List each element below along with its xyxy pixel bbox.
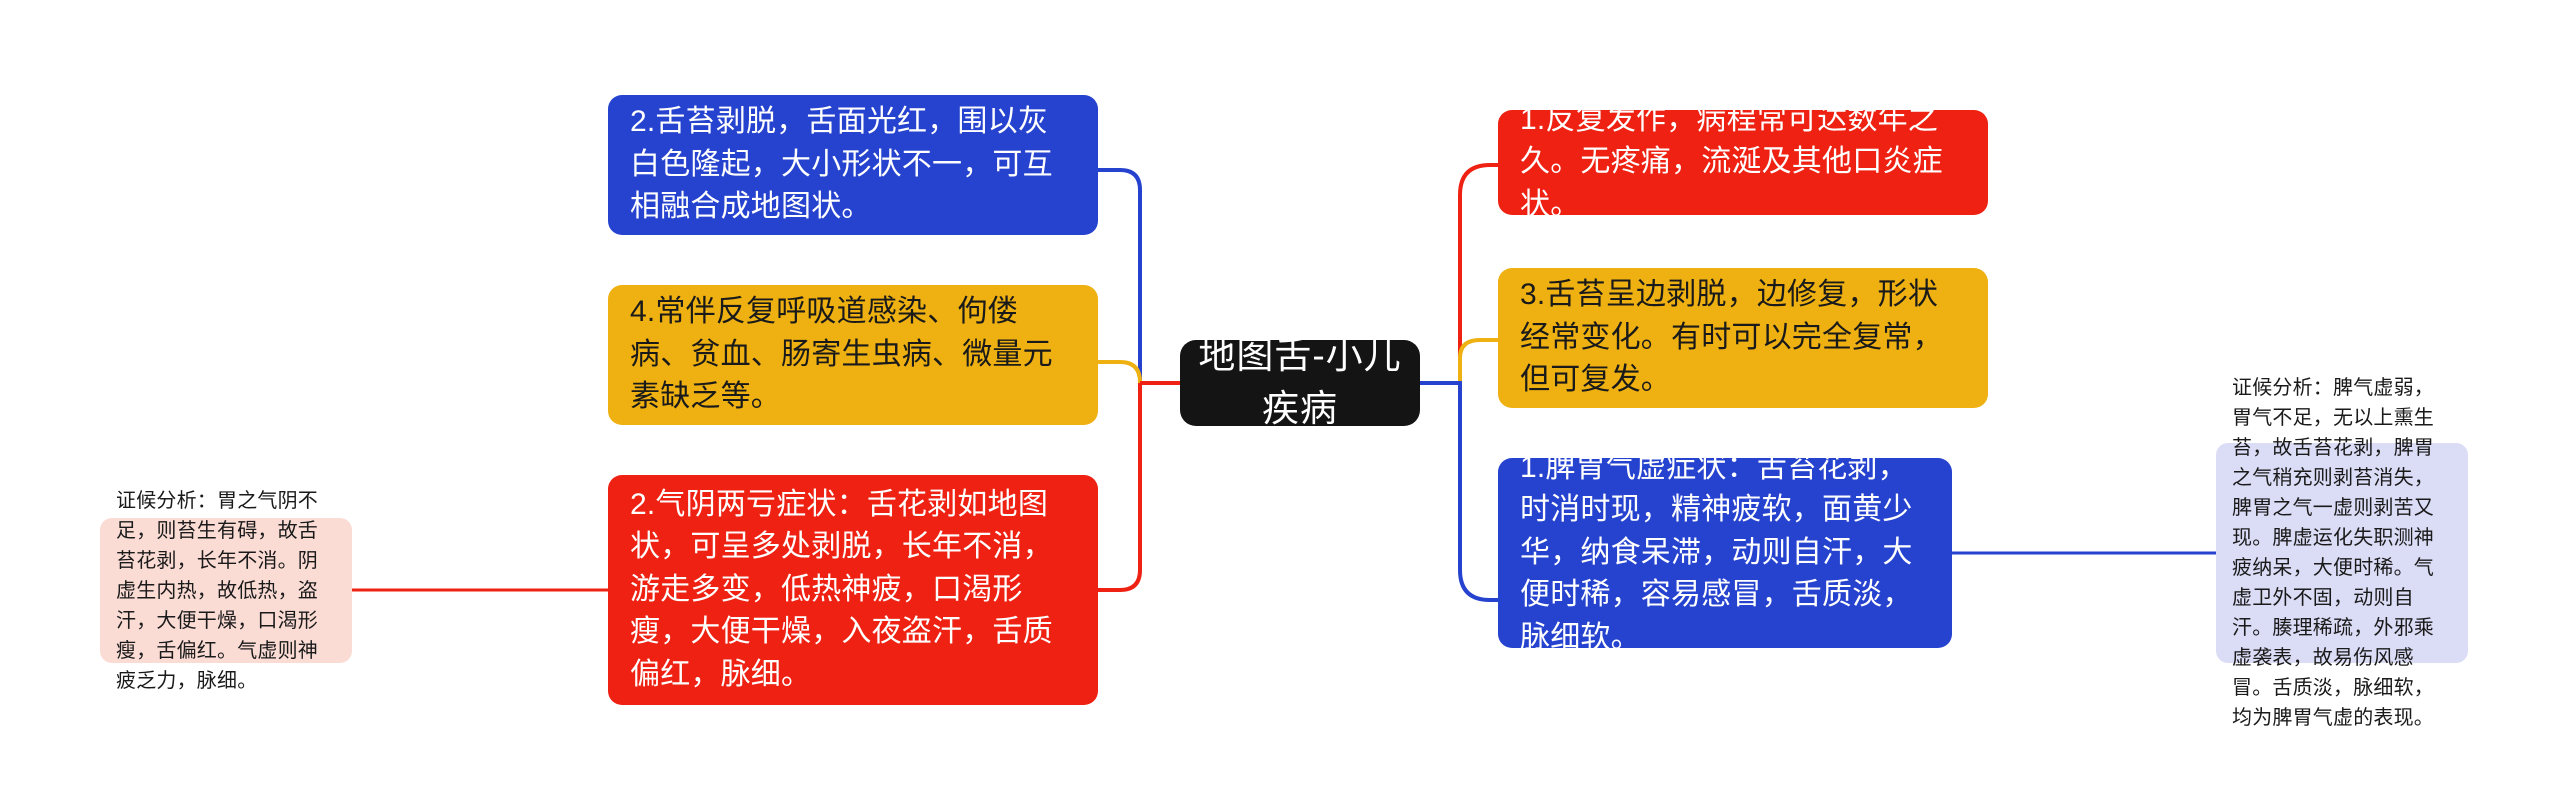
branch-node-left-red-label: 2.气阴两亏症状：舌花剥如地图状，可呈多处剥脱，长年不消，游走多变，低热神疲，口… (630, 484, 1076, 697)
connector-right-blue (1420, 383, 1498, 600)
branch-node-right-blue-label: 1.脾胃气虚症状：舌苔花剥，时消时现，精神疲软，面黄少华，纳食呆滞，动则自汗，大… (1520, 447, 1930, 660)
mindmap-canvas: 地图舌-小儿疾病 2.舌苔剥脱，舌面光红，围以灰白色隆起，大小形状不一，可互相融… (0, 0, 2560, 791)
root-node-label: 地图舌-小儿疾病 (1180, 330, 1420, 435)
branch-node-right-blue[interactable]: 1.脾胃气虚症状：舌苔花剥，时消时现，精神疲软，面黄少华，纳食呆滞，动则自汗，大… (1498, 458, 1952, 648)
connector-left-yellow (1098, 362, 1140, 383)
branch-node-left-yellow[interactable]: 4.常伴反复呼吸道感染、佝偻病、贫血、肠寄生虫病、微量元素缺乏等。 (608, 285, 1098, 425)
connector-right-yellow (1420, 340, 1498, 383)
leaf-note-right-lavender[interactable]: 证候分析：脾气虚弱，胃气不足，无以上熏生苔，故舌苔花剥，脾胃之气稍充则剥苔消失，… (2216, 443, 2468, 663)
branch-node-left-blue-label: 2.舌苔剥脱，舌面光红，围以灰白色隆起，大小形状不一，可互相融合成地图状。 (630, 101, 1076, 229)
leaf-note-left-pink-label: 证候分析：胃之气阴不足，则苔生有碍，故舌苔花剥，长年不消。阴虚生内热，故低热，盗… (116, 486, 336, 696)
branch-node-right-red-label: 1.反复发作，病程常可达数年之久。无疼痛，流涎及其他口炎症状。 (1520, 99, 1966, 227)
leaf-note-right-lavender-label: 证候分析：脾气虚弱，胃气不足，无以上熏生苔，故舌苔花剥，脾胃之气稍充则剥苔消失，… (2232, 373, 2452, 733)
branch-node-left-red[interactable]: 2.气阴两亏症状：舌花剥如地图状，可呈多处剥脱，长年不消，游走多变，低热神疲，口… (608, 475, 1098, 705)
connector-right-red (1420, 165, 1498, 383)
root-node[interactable]: 地图舌-小儿疾病 (1180, 340, 1420, 426)
branch-node-left-blue[interactable]: 2.舌苔剥脱，舌面光红，围以灰白色隆起，大小形状不一，可互相融合成地图状。 (608, 95, 1098, 235)
branch-node-right-yellow-label: 3.舌苔呈边剥脱，边修复，形状经常变化。有时可以完全复常，但可复发。 (1520, 274, 1966, 402)
connector-left-red (1098, 383, 1140, 590)
branch-node-left-yellow-label: 4.常伴反复呼吸道感染、佝偻病、贫血、肠寄生虫病、微量元素缺乏等。 (630, 291, 1076, 419)
branch-node-right-yellow[interactable]: 3.舌苔呈边剥脱，边修复，形状经常变化。有时可以完全复常，但可复发。 (1498, 268, 1988, 408)
leaf-note-left-pink[interactable]: 证候分析：胃之气阴不足，则苔生有碍，故舌苔花剥，长年不消。阴虚生内热，故低热，盗… (100, 518, 352, 663)
connector-left-blue (1098, 170, 1140, 383)
branch-node-right-red[interactable]: 1.反复发作，病程常可达数年之久。无疼痛，流涎及其他口炎症状。 (1498, 110, 1988, 215)
